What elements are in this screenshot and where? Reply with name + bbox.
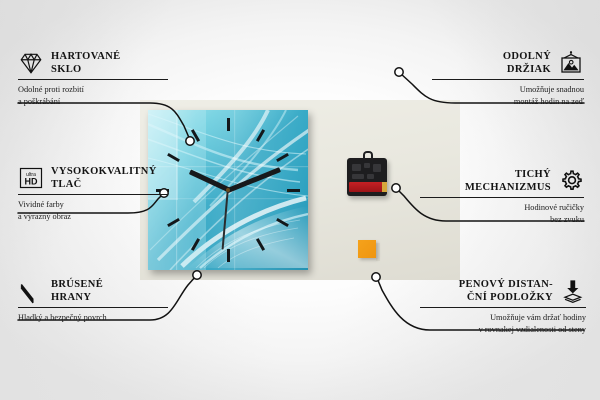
clock-tick-6 <box>227 249 230 262</box>
mechanism-hanger <box>363 151 373 159</box>
feature-head: ultra HD VYSOKOKVALITNÝ TLAČ <box>18 165 168 191</box>
feature-high-quality-print: ultra HD VYSOKOKVALITNÝ TLAČ Vividné far… <box>18 165 168 222</box>
diamond-icon <box>18 50 44 76</box>
clock-center-pivot <box>226 188 230 192</box>
feature-ground-edges: BRÚSENÉ HRANY Hladký a bezpečný povrch <box>18 278 168 324</box>
feature-divider <box>18 307 168 308</box>
feature-description: Hodinové ručičky bez zvuku <box>420 202 584 225</box>
feature-head: ODOLNÝ DRŽIAK <box>432 50 584 76</box>
feature-head: HARTOVANÉ SKLO <box>18 50 168 76</box>
feature-head: TICHÝ MECHANIZMUS <box>420 168 584 194</box>
feature-foam-spacers: PENOVÝ DISTAN- ČNÍ PODLOŽKY Umožňuje vám… <box>420 278 586 335</box>
feature-head: BRÚSENÉ HRANY <box>18 278 168 304</box>
clock-tick-3 <box>287 189 300 192</box>
hanging-picture-icon <box>558 50 584 76</box>
ultra-hd-icon: ultra HD <box>18 165 44 191</box>
feature-divider <box>18 79 168 80</box>
feature-durable-holder: ODOLNÝ DRŽIAK Umožňuje snadnou montáž ho… <box>432 50 584 107</box>
glass-wall-clock <box>148 110 308 270</box>
feature-divider <box>432 79 584 80</box>
arrow-into-layers-icon <box>560 278 586 304</box>
feature-title: ODOLNÝ DRŽIAK <box>503 50 551 76</box>
feature-title: VYSOKOKVALITNÝ TLAČ <box>51 165 157 191</box>
connector-dot-holder <box>395 68 403 76</box>
feature-title: BRÚSENÉ HRANY <box>51 278 103 304</box>
foam-spacer-pad <box>358 240 376 258</box>
feature-head: PENOVÝ DISTAN- ČNÍ PODLOŽKY <box>420 278 586 304</box>
feature-title: TICHÝ MECHANIZMUS <box>465 168 551 194</box>
clock-battery <box>349 182 385 192</box>
battery-positive-cap <box>382 182 387 192</box>
feature-description: Umožňuje snadnou montáž hodin na zeď <box>432 84 584 107</box>
feature-divider <box>420 197 584 198</box>
feature-description: Odolné proti rozbití a poškrábání <box>18 84 168 107</box>
feature-divider <box>18 194 168 195</box>
product-photo <box>140 100 460 280</box>
feature-silent-mechanism: TICHÝ MECHANIZMUS Hodinové ručičky bez z… <box>420 168 584 225</box>
foam-pad-shadow <box>376 243 380 261</box>
feature-tempered-glass: HARTOVANÉ SKLO Odolné proti rozbití a po… <box>18 50 168 107</box>
feature-description: Hladký a bezpečný povrch <box>18 312 168 323</box>
gear-icon <box>558 168 584 194</box>
svg-text:HD: HD <box>25 177 38 187</box>
feature-title: PENOVÝ DISTAN- ČNÍ PODLOŽKY <box>459 278 553 304</box>
feature-description: Umožňuje vám držať hodiny v rovnakej vzd… <box>420 312 586 335</box>
feature-title: HARTOVANÉ SKLO <box>51 50 121 76</box>
promo-infographic: HARTOVANÉ SKLO Odolné proti rozbití a po… <box>0 0 600 400</box>
clock-tick-12 <box>227 118 230 131</box>
diagonal-lines-icon <box>18 278 44 304</box>
feature-divider <box>420 307 586 308</box>
feature-description: Vividné farby a výrazný obraz <box>18 199 168 222</box>
